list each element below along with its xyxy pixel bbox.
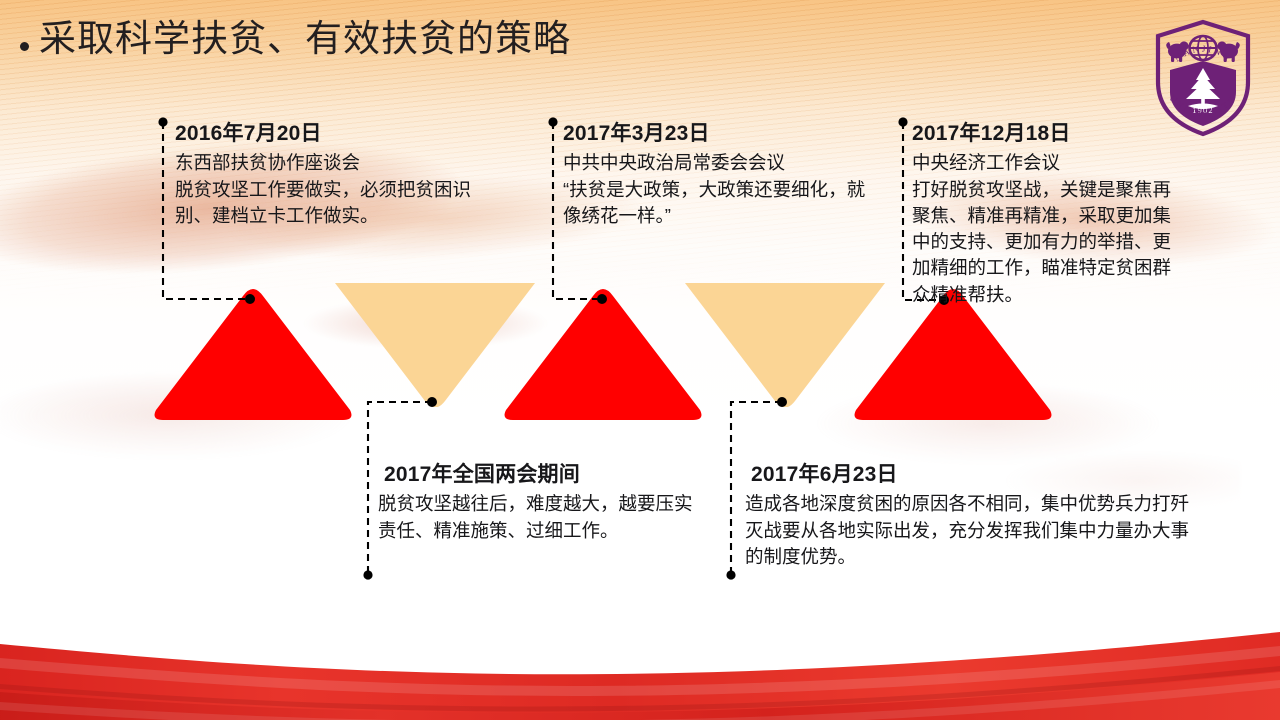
timeline-body-4: 造成各地深度贫困的原因各不相同，集中优势兵力打歼灭战要从各地实际出发，充分发挥我… <box>745 491 1195 570</box>
timeline-meeting-3: 中共中央政治局常委会会议 <box>563 150 873 176</box>
slide-canvas: 采取科学扶贫、有效扶贫的策略 <box>0 0 1280 720</box>
page-title: 采取科学扶贫、有效扶贫的策略 <box>39 18 571 59</box>
timeline-meeting-5: 中央经济工作会议 <box>912 150 1174 176</box>
timeline-card-5: 2017年12月18日 中央经济工作会议 打好脱贫攻坚战，关键是聚焦再聚焦、精准… <box>912 121 1174 308</box>
timeline-date-4: 2017年6月23日 <box>751 462 1195 488</box>
timeline-date-1: 2016年7月20日 <box>175 121 505 147</box>
timeline-date-3: 2017年3月23日 <box>563 121 873 147</box>
timeline-body-3: “扶贫是大政策，大政策还要细化，就像绣花一样。” <box>563 177 873 230</box>
timeline-card-4: 2017年6月23日 造成各地深度贫困的原因各不相同，集中优势兵力打歼灭战要从各… <box>745 462 1195 570</box>
timeline-card-2: 2017年全国两会期间 脱贫攻坚越往后，难度越大，越要压实责任、精准施策、过细工… <box>378 462 708 544</box>
timeline-body-2: 脱贫攻坚越往后，难度越大，越要压实责任、精准施策、过细工作。 <box>378 491 708 544</box>
timeline-date-2: 2017年全国两会期间 <box>384 462 708 488</box>
red-triangle-up-1 <box>153 286 353 422</box>
timeline-meeting-1: 东西部扶贫协作座谈会 <box>175 150 505 176</box>
slide-title-row: 采取科学扶贫、有效扶贫的策略 <box>20 18 571 59</box>
timeline-date-5: 2017年12月18日 <box>912 121 1174 147</box>
timeline-card-3: 2017年3月23日 中共中央政治局常委会会议 “扶贫是大政策，大政策还要细化，… <box>563 121 873 229</box>
bottom-ribbon-decoration <box>0 580 1280 720</box>
timeline-body-5: 打好脱贫攻坚战，关键是聚焦再聚焦、精准再精准，采取更加集中的支持、更加有力的举措… <box>912 177 1174 308</box>
red-triangle-up-2 <box>503 286 703 422</box>
bullet-icon <box>20 42 29 51</box>
timeline-body-1: 脱贫攻坚工作要做实，必须把贫困识别、建档立卡工作做实。 <box>175 177 505 230</box>
timeline-card-1: 2016年7月20日 东西部扶贫协作座谈会 脱贫攻坚工作要做实，必须把贫困识别、… <box>175 121 505 229</box>
